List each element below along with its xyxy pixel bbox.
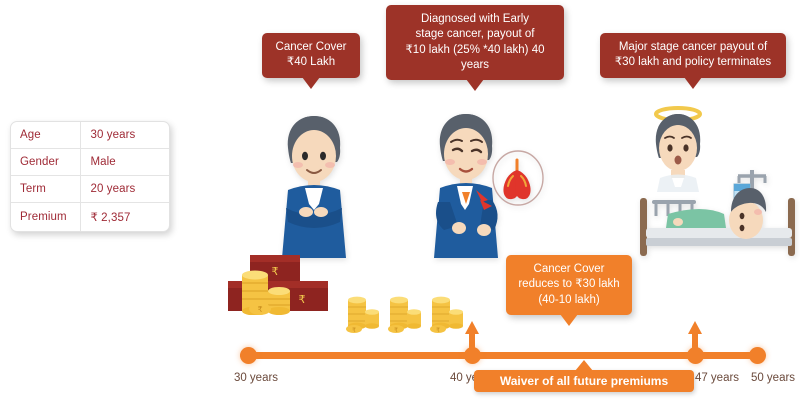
blush-right [477,159,487,165]
table-cell-label: Gender [11,149,81,176]
coin-stack-group-2: ₹ [388,297,421,334]
table-row: Premium ₹ 2,357 [11,203,169,232]
policy-timeline [240,352,760,359]
eye-right [683,144,688,151]
table-cell-value: 30 years [81,122,169,149]
patient-eye-lower [740,225,745,231]
coin-stack-short [268,287,290,315]
policy-details-table: Age 30 years Gender Male Term 20 years P… [10,121,170,232]
rupee-symbol: ₹ [299,293,306,306]
coin-single: ₹ [249,303,271,315]
blush-right [325,162,335,168]
callout-line: reduces to ₹30 lakh [515,277,623,292]
mattress [646,228,792,238]
banner-notch-icon [575,360,593,371]
callout-major-stage-payout: Major stage cancer payout of ₹30 lakh an… [600,33,786,78]
svg-text:₹: ₹ [436,327,440,334]
hand-right [477,224,491,236]
callout-pointer-icon [302,77,320,89]
patient-eye-upper [740,213,745,219]
blush-left [293,162,303,168]
sick-man-with-lungs [418,106,548,258]
timeline-node-30-years[interactable] [240,347,257,364]
table-cell-label: Premium [11,203,81,232]
timeline-node-47-years[interactable] [687,347,704,364]
table-cell-value: Male [81,149,169,176]
bed-headboard-top [652,200,696,204]
patient-hand [673,218,683,226]
svg-text:₹: ₹ [394,327,398,334]
timeline-arrow-40-years [465,321,479,334]
table-cell-label: Term [11,176,81,203]
table-cell-value: 20 years [81,176,169,203]
gold-coin-stacks: ₹ ₹ ₹ [344,294,468,336]
lung-right [515,170,531,199]
patient-in-hospital-bed [638,170,800,262]
callout-line: (40-10 lakh) [515,293,623,308]
timeline-label-30-years: 30 years [234,372,278,384]
waiver-banner: Waiver of all future premiums [474,370,694,392]
hand-left-on-chest [452,222,466,234]
hand-left [299,207,313,217]
open-mouth [675,156,682,165]
eye-left [667,144,672,151]
callout-line: ₹30 lakh and policy terminates [609,55,777,70]
callout-line: Major stage cancer payout of [609,40,777,55]
callout-cancer-cover: Cancer Cover ₹40 Lakh [262,33,360,78]
callout-line: stage cancer, payout of [395,27,555,42]
callout-line: Cancer Cover [515,262,623,277]
bed-frame [646,238,792,246]
blush-left [445,159,455,165]
face [292,130,336,182]
money-box-right-lid [276,281,328,288]
coin-stack-group-1: ₹ [346,297,379,334]
table-row: Age 30 years [11,122,169,149]
bed-post-right [788,198,795,256]
rupee-symbol: ₹ [272,265,279,278]
money-box-top-lid [250,255,300,262]
callout-line: Diagnosed with Early [395,12,555,27]
coin-stack-group-3: ₹ [430,297,463,334]
svg-text:₹: ₹ [352,327,356,334]
money-boxes-rupee: ₹ ₹ ₹ [222,253,342,315]
bed-post-left [640,198,647,256]
callout-line: Cancer Cover [271,40,351,55]
timeline-arrow-47-years [688,321,702,334]
table-row: Term 20 years [11,176,169,203]
timeline-label-50-years: 50 years [751,372,795,384]
callout-pointer-icon [684,77,702,89]
callout-pointer-icon [466,79,484,91]
eye-left [302,152,308,160]
callout-line: ₹10 lakh (25% *40 lakh) 40 years [395,43,555,74]
hand-right [314,207,328,217]
callout-early-stage-diagnosis: Diagnosed with Early stage cancer, payou… [386,5,564,80]
timeline-label-47-years: 47 years [695,372,739,384]
callout-pointer-icon [560,314,578,326]
infographic-canvas: Age 30 years Gender Male Term 20 years P… [0,0,800,400]
healthy-man-arms-crossed [258,108,370,258]
waiver-banner-label: Waiver of all future premiums [500,374,668,388]
table-row: Gender Male [11,149,169,176]
callout-line: ₹40 Lakh [271,55,351,70]
table-cell-label: Age [11,122,81,149]
table-cell-value: ₹ 2,357 [81,203,169,232]
svg-text:₹: ₹ [257,305,262,314]
patient-blush [754,209,762,215]
eye-right [320,152,326,160]
timeline-node-50-years[interactable] [749,347,766,364]
callout-cover-reduces: Cancer Cover reduces to ₹30 lakh (40-10 … [506,255,632,315]
timeline-node-40-years[interactable] [464,347,481,364]
